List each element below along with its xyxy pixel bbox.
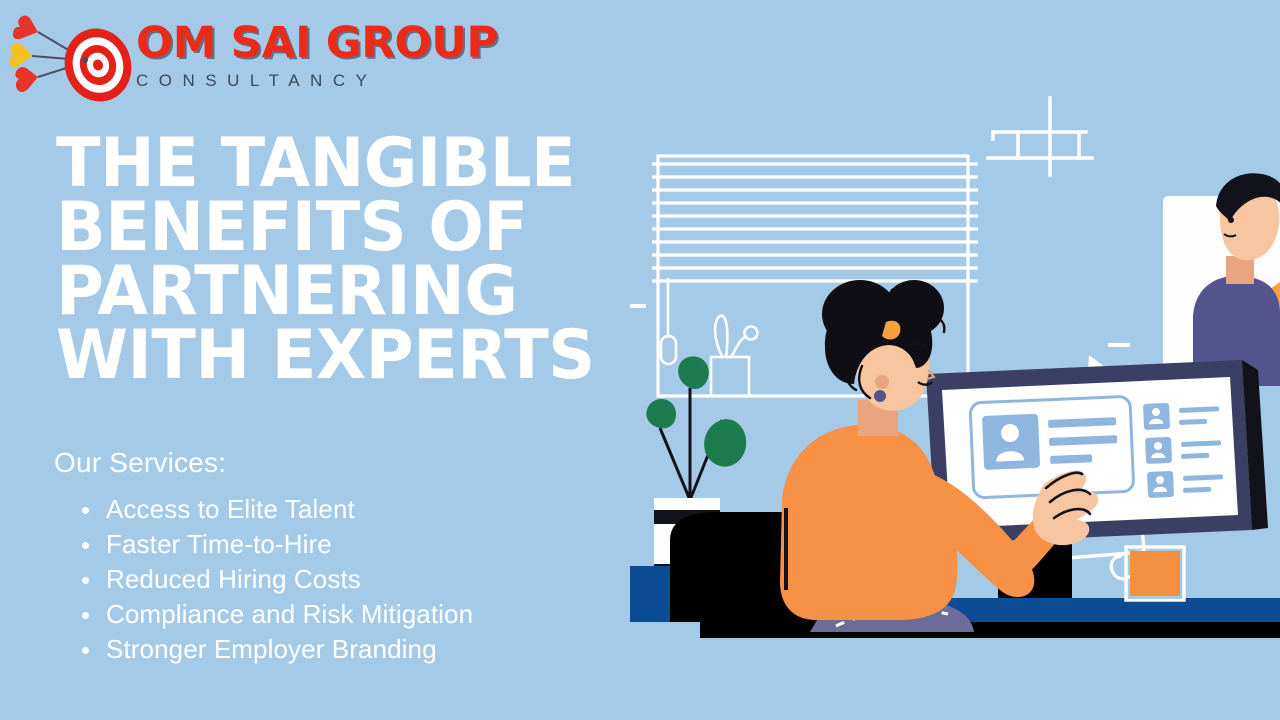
- services-list: Access to Elite Talent Faster Time-to-Hi…: [54, 492, 654, 667]
- target-with-arrows-icon: [8, 10, 138, 106]
- list-item-label: Faster Time-to-Hire: [106, 529, 332, 559]
- pencil-cup-with-scissors: [711, 316, 758, 396]
- services-block: Our Services: Access to Elite Talent Fas…: [54, 444, 654, 667]
- list-item-label: Reduced Hiring Costs: [106, 564, 361, 594]
- bullet-icon: [82, 647, 89, 654]
- video-call-panel-man: [1163, 173, 1280, 386]
- recruiter-at-desk-illustration: [630, 70, 1280, 640]
- list-item: Faster Time-to-Hire: [54, 527, 654, 562]
- list-item: Access to Elite Talent: [54, 492, 654, 527]
- bullet-icon: [82, 507, 89, 514]
- slide-canvas: OM SAI GROUP CONSULTANCY THE TANGIBLE BE…: [0, 0, 1280, 720]
- list-item: Reduced Hiring Costs: [54, 562, 654, 597]
- brand-name: OM SAI GROUP: [136, 20, 454, 66]
- list-item-label: Compliance and Risk Mitigation: [106, 599, 473, 629]
- services-heading: Our Services:: [54, 444, 654, 482]
- brand-wordmark: OM SAI GROUP CONSULTANCY: [136, 20, 448, 93]
- page-title: THE TANGIBLE BENEFITS OF PARTNERING WITH…: [56, 132, 651, 388]
- bullet-icon: [82, 542, 89, 549]
- list-item: Compliance and Risk Mitigation: [54, 597, 654, 632]
- brand-logo[interactable]: OM SAI GROUP CONSULTANCY: [8, 8, 448, 108]
- list-item-label: Access to Elite Talent: [106, 494, 355, 524]
- grid-decoration: [988, 98, 1092, 175]
- list-item-label: Stronger Employer Branding: [106, 634, 437, 664]
- brand-tagline: CONSULTANCY: [136, 69, 448, 93]
- list-item: Stronger Employer Branding: [54, 632, 654, 667]
- bullet-icon: [82, 612, 89, 619]
- bullet-icon: [82, 577, 89, 584]
